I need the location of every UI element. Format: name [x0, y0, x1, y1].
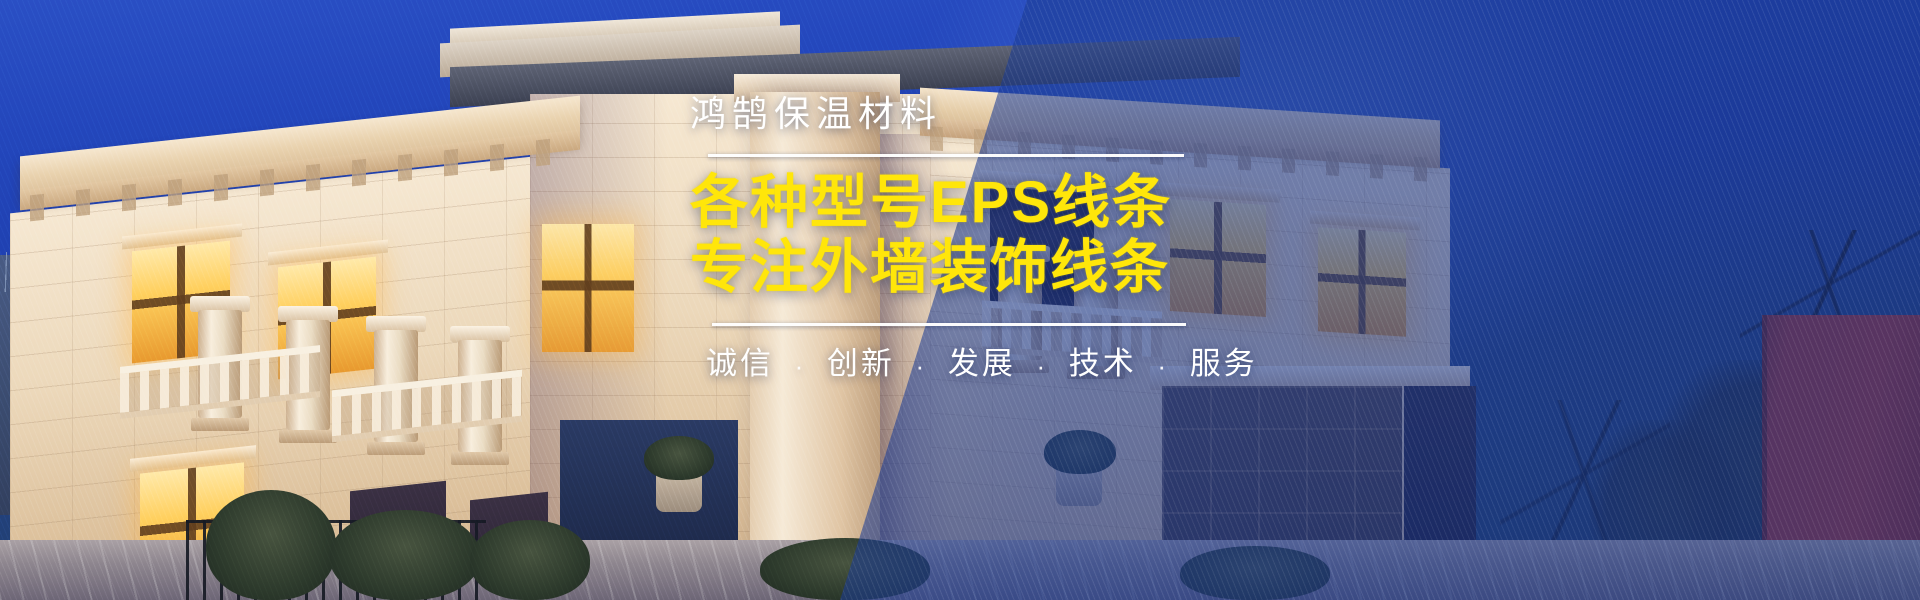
divider-top — [708, 154, 1184, 157]
tagline-item-5: 服务 — [1190, 346, 1258, 381]
column-base — [279, 430, 337, 443]
hero-banner: 鸿鹄保温材料 各种型号EPS线条 专注外墙装饰线条 诚信 · 创新 · 发展 ·… — [0, 0, 1920, 600]
tagline-separator: · — [1036, 351, 1048, 381]
tagline-separator: · — [795, 351, 807, 381]
tagline-separator: · — [1157, 351, 1169, 381]
shrub — [206, 490, 336, 600]
window-mullion — [542, 224, 634, 352]
headline-line-1: 各种型号EPS线条 — [690, 171, 1230, 236]
column-base — [451, 452, 509, 465]
tagline: 诚信 · 创新 · 发展 · 技术 · 服务 — [706, 348, 1230, 379]
shrub — [470, 520, 590, 600]
divider-bottom — [712, 323, 1186, 326]
banner-copy-block: 鸿鹄保温材料 各种型号EPS线条 专注外墙装饰线条 诚信 · 创新 · 发展 ·… — [690, 96, 1230, 379]
headline: 各种型号EPS线条 专注外墙装饰线条 — [690, 171, 1230, 301]
column-base — [367, 442, 425, 455]
tagline-item-1: 诚信 — [706, 346, 774, 381]
shrub — [330, 510, 480, 600]
brand-name: 鸿鹄保温材料 — [690, 96, 1230, 132]
tagline-separator: · — [916, 351, 928, 381]
tagline-item-3: 发展 — [948, 346, 1016, 381]
headline-line-2: 专注外墙装饰线条 — [690, 236, 1230, 301]
column-base — [191, 418, 249, 431]
planter-shrub — [644, 436, 714, 480]
tagline-item-4: 技术 — [1069, 346, 1137, 381]
tagline-item-2: 创新 — [827, 346, 895, 381]
